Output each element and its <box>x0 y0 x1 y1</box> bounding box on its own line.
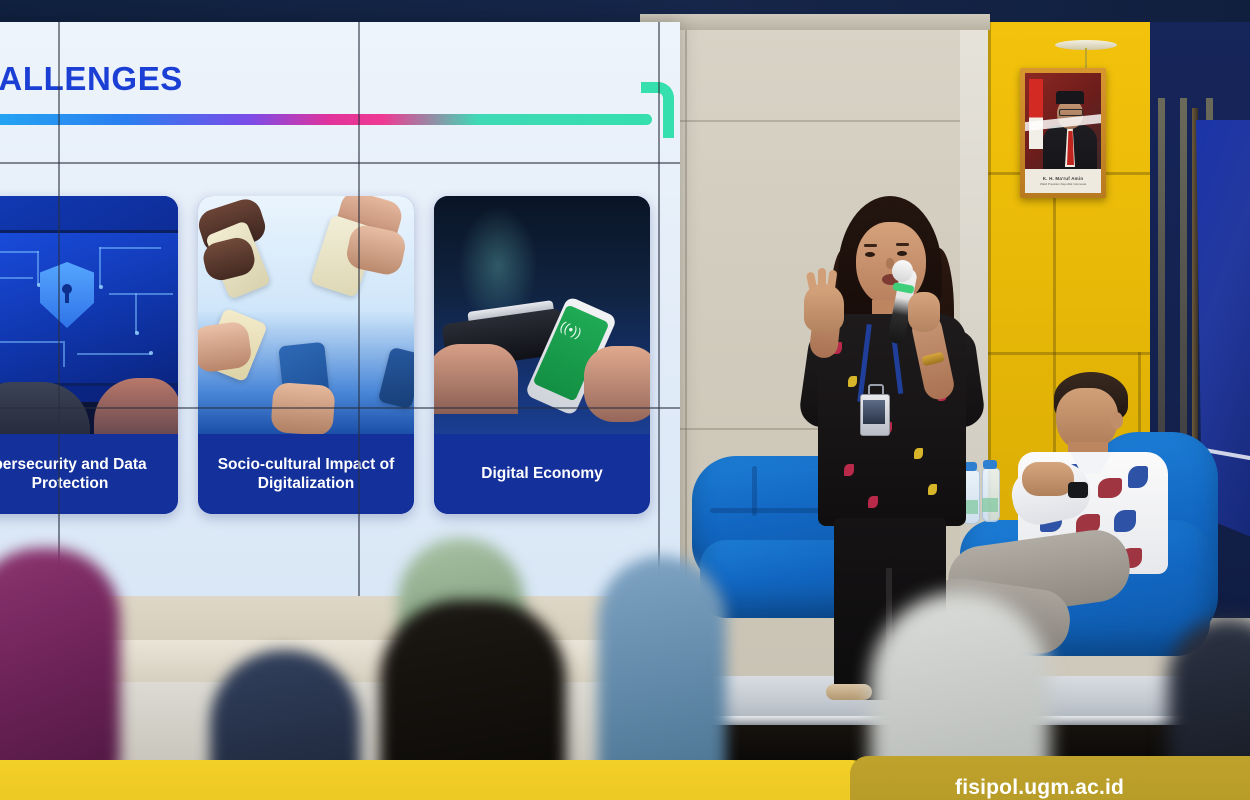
slide-accent-line <box>0 114 652 125</box>
footer-website-banner: fisipol.ugm.ac.id <box>850 756 1250 800</box>
hands-holding-smartphones-icon <box>198 196 414 434</box>
presentation-slide: HALLENGES <box>0 22 680 600</box>
ceiling-dark-band <box>0 0 1250 22</box>
slide-card-socio-cultural: Socio-cultural Impact of Digitalization <box>198 196 414 514</box>
footer-yellow-bar <box>0 760 870 800</box>
slide-card-label: bersecurity and Data Protection <box>0 434 178 514</box>
laptop-shield-circuit-icon <box>0 196 178 434</box>
presentation-photo: K. H. Ma'ruf Amin Wakil Presiden Republi… <box>0 0 1250 800</box>
portrait-name: K. H. Ma'ruf Amin <box>1043 176 1084 181</box>
website-url-text: fisipol.ugm.ac.id <box>955 776 1124 800</box>
slide-card-cybersecurity: bersecurity and Data Protection <box>0 196 178 514</box>
slide-card-label: Digital Economy <box>434 434 650 514</box>
contactless-mobile-payment-icon: ((•)) <box>434 196 650 434</box>
framed-portrait: K. H. Ma'ruf Amin Wakil Presiden Republi… <box>1020 68 1106 198</box>
ceiling-strip <box>640 14 990 30</box>
video-wall-screen: HALLENGES <box>0 22 680 600</box>
slide-title: HALLENGES <box>0 60 183 98</box>
slide-card-digital-economy: ((•)) Digital Economy <box>434 196 650 514</box>
slide-card-label: Socio-cultural Impact of Digitalization <box>198 434 414 514</box>
portrait-subtitle: Wakil Presiden Republik Indonesia <box>1040 182 1086 186</box>
room-background: K. H. Ma'ruf Amin Wakil Presiden Republi… <box>0 0 1250 800</box>
